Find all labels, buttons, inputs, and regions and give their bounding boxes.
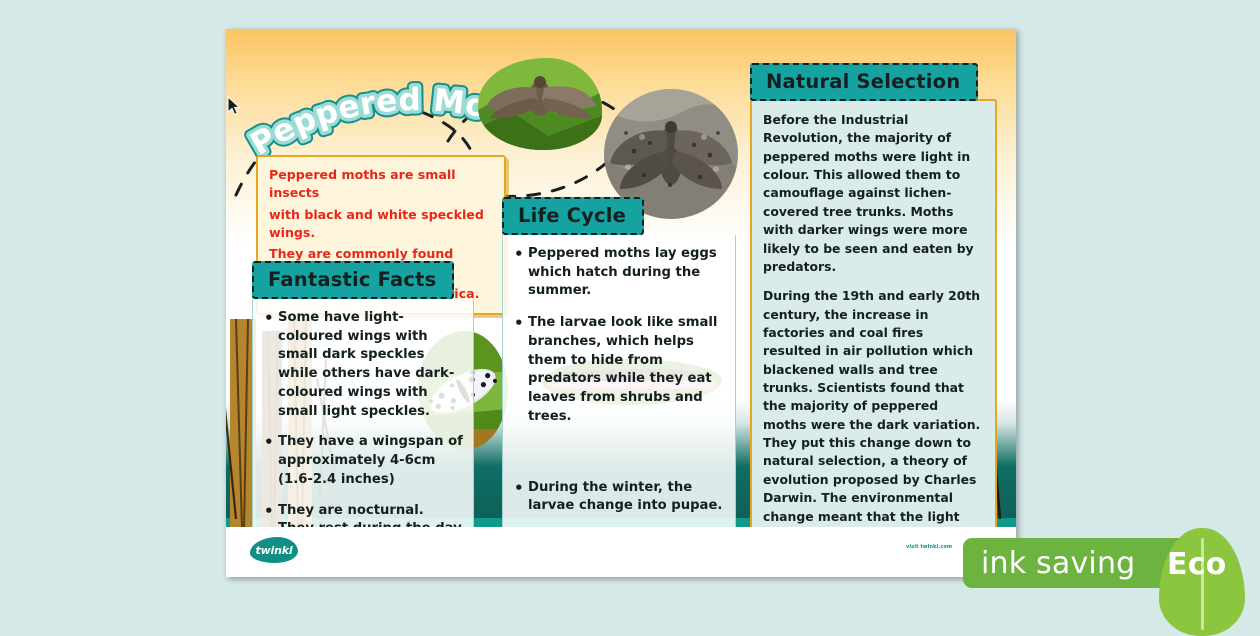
- list-item: Peppered moths lay eggs which hatch duri…: [511, 245, 725, 301]
- section-body-life-cycle: Peppered moths lay eggs which hatch duri…: [502, 235, 736, 577]
- logo-text: twinkl: [250, 537, 298, 563]
- poster-sheet: Peppered Moths Peppered Moths Peppered M…: [226, 29, 1016, 577]
- fact-list-life-cycle: Peppered moths lay eggs which hatch duri…: [503, 235, 735, 577]
- section-body-natural-selection: Before the Industrial Revolution, the ma…: [750, 99, 997, 577]
- twinkl-logo[interactable]: twinkl: [250, 537, 298, 563]
- list-item: Some have light-coloured wings with smal…: [261, 309, 463, 421]
- screenshot-root: Peppered Moths Peppered Moths Peppered M…: [0, 0, 1260, 630]
- section-heading-life-cycle: Life Cycle: [502, 197, 644, 235]
- mouse-cursor: [227, 96, 241, 120]
- intro-line: with black and white speckled wings.: [269, 206, 493, 243]
- section-heading-natural-selection: Natural Selection: [750, 63, 978, 101]
- list-item: They have a wingspan of approximately 4-…: [261, 433, 463, 489]
- section-natural-selection: Natural Selection Before the Industrial …: [750, 63, 997, 577]
- eco-badge: ink saving Eco: [963, 532, 1260, 594]
- list-item: During the winter, the larvae change int…: [511, 479, 725, 516]
- photo-moth-on-leaf: [478, 58, 602, 150]
- website-url: visit twinkl.com: [906, 544, 952, 550]
- paragraph: Before the Industrial Revolution, the ma…: [763, 111, 984, 276]
- section-heading-fantastic-facts: Fantastic Facts: [252, 261, 454, 299]
- eco-word: Eco: [1167, 547, 1227, 582]
- intro-line: Peppered moths are small insects: [269, 166, 493, 203]
- footer-strip: [226, 527, 1016, 577]
- section-life-cycle: Life Cycle Peppered moths lay eggs which…: [502, 197, 736, 577]
- list-item: The larvae look like small branches, whi…: [511, 314, 725, 426]
- eco-label: ink saving: [981, 546, 1135, 581]
